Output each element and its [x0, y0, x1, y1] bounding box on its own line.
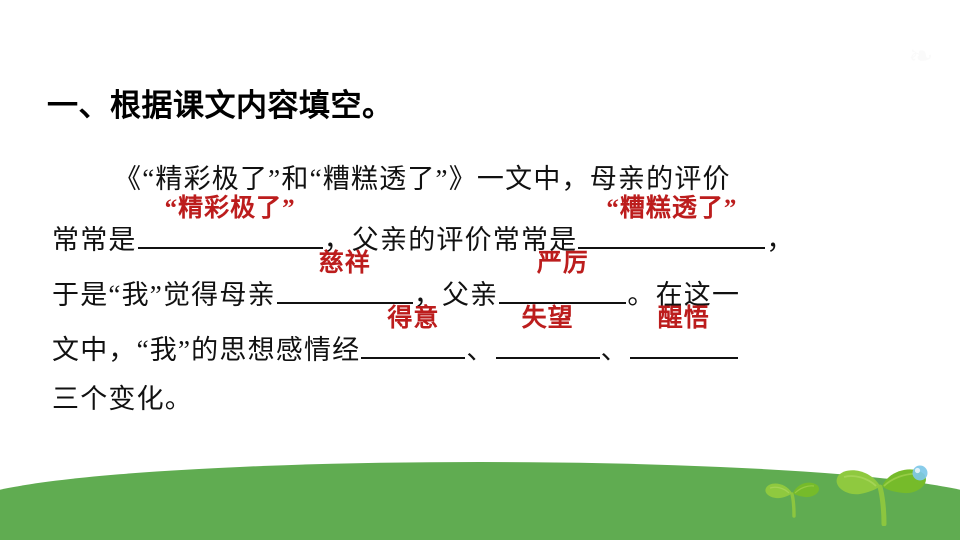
- blank-emotion-3-answer: 醒悟: [630, 304, 738, 334]
- blank-father-trait-answer: 严厉: [499, 249, 626, 279]
- page-title: 一、根据课文内容填空。: [47, 86, 394, 126]
- blank-mother-trait[interactable]: 慈祥: [277, 262, 413, 304]
- corner-watermark-icon: ❧: [898, 34, 944, 80]
- blank-mother-comment[interactable]: “精彩极了”: [138, 207, 323, 249]
- exercise-line-4: 文中，“我”的思想感情经得意、失望、醒悟: [52, 317, 914, 372]
- water-drop-icon: [913, 466, 928, 481]
- blank-father-comment[interactable]: “糟糕透了”: [578, 207, 765, 249]
- line2-text-part1: 常常是: [52, 213, 137, 268]
- line2-text-part3: ，: [766, 213, 794, 268]
- blank-emotion-3[interactable]: 醒悟: [630, 317, 738, 359]
- line4-text-part1: 文中，“我”的思想感情经: [52, 323, 360, 378]
- sprout-small-icon: [762, 472, 826, 518]
- blank-mother-trait-answer: 慈祥: [277, 249, 413, 279]
- blank-emotion-2-answer: 失望: [496, 304, 600, 334]
- line4-text-part2: 、: [466, 323, 494, 378]
- line3-text-part1: 于是“我”觉得母亲: [52, 268, 276, 323]
- blank-emotion-1-answer: 得意: [361, 304, 465, 334]
- line4-text-part3: 、: [601, 323, 629, 378]
- blank-emotion-1[interactable]: 得意: [361, 317, 465, 359]
- sprout-large-icon: [832, 456, 936, 526]
- slide-canvas: ❧ 一、根据课文内容填空。 《“精彩极了”和“糟糕透了”》一文中，母亲的评价 常…: [0, 0, 960, 540]
- blank-father-trait[interactable]: 严厉: [499, 262, 626, 304]
- exercise-line-3: 于是“我”觉得母亲慈祥，父亲严厉。在这一: [52, 262, 914, 317]
- line5-text-part1: 三个变化。: [52, 372, 193, 427]
- exercise-line-5: 三个变化。: [52, 372, 914, 427]
- blank-emotion-2[interactable]: 失望: [496, 317, 600, 359]
- exercise-body: 《“精彩极了”和“糟糕透了”》一文中，母亲的评价 常常是“精彩极了”，父亲的评价…: [52, 152, 914, 427]
- blank-mother-comment-answer: “精彩极了”: [138, 194, 323, 224]
- exercise-line-2: 常常是“精彩极了”，父亲的评价常常是“糟糕透了”，: [52, 207, 914, 262]
- blank-father-comment-answer: “糟糕透了”: [578, 194, 765, 224]
